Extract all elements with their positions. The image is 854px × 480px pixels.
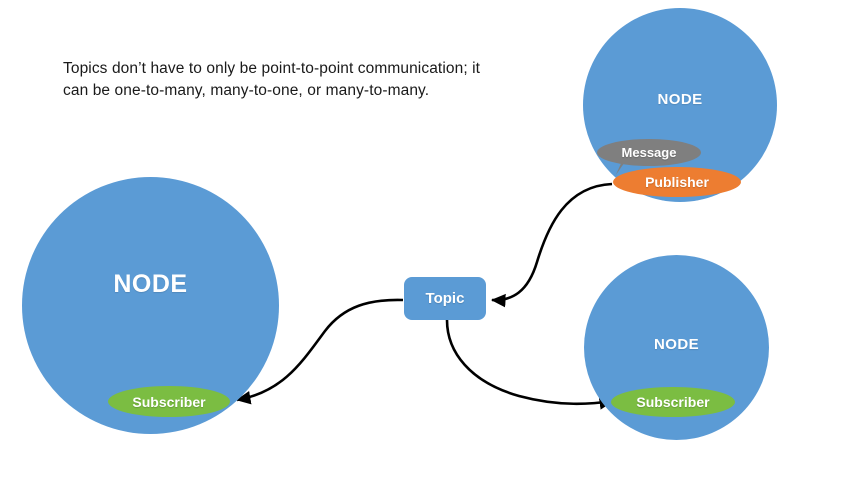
topic-label: Topic (426, 290, 465, 307)
publisher[interactable]: Publisher (613, 167, 741, 197)
caption-text: Topics don’t have to only be point-to-po… (63, 58, 483, 103)
message-bubble[interactable]: Message (597, 139, 701, 166)
arrow-publisher-to-topic (492, 184, 612, 300)
subscriber-left[interactable]: Subscriber (108, 386, 230, 417)
subscriber-right[interactable]: Subscriber (611, 387, 735, 417)
topic-box[interactable]: Topic (404, 277, 486, 320)
node-bottom-right-label: NODE (584, 336, 769, 353)
node-top-right-label: NODE (583, 91, 777, 108)
diagram-slide: Topics don’t have to only be point-to-po… (0, 0, 854, 480)
node-left-label: NODE (22, 270, 279, 299)
